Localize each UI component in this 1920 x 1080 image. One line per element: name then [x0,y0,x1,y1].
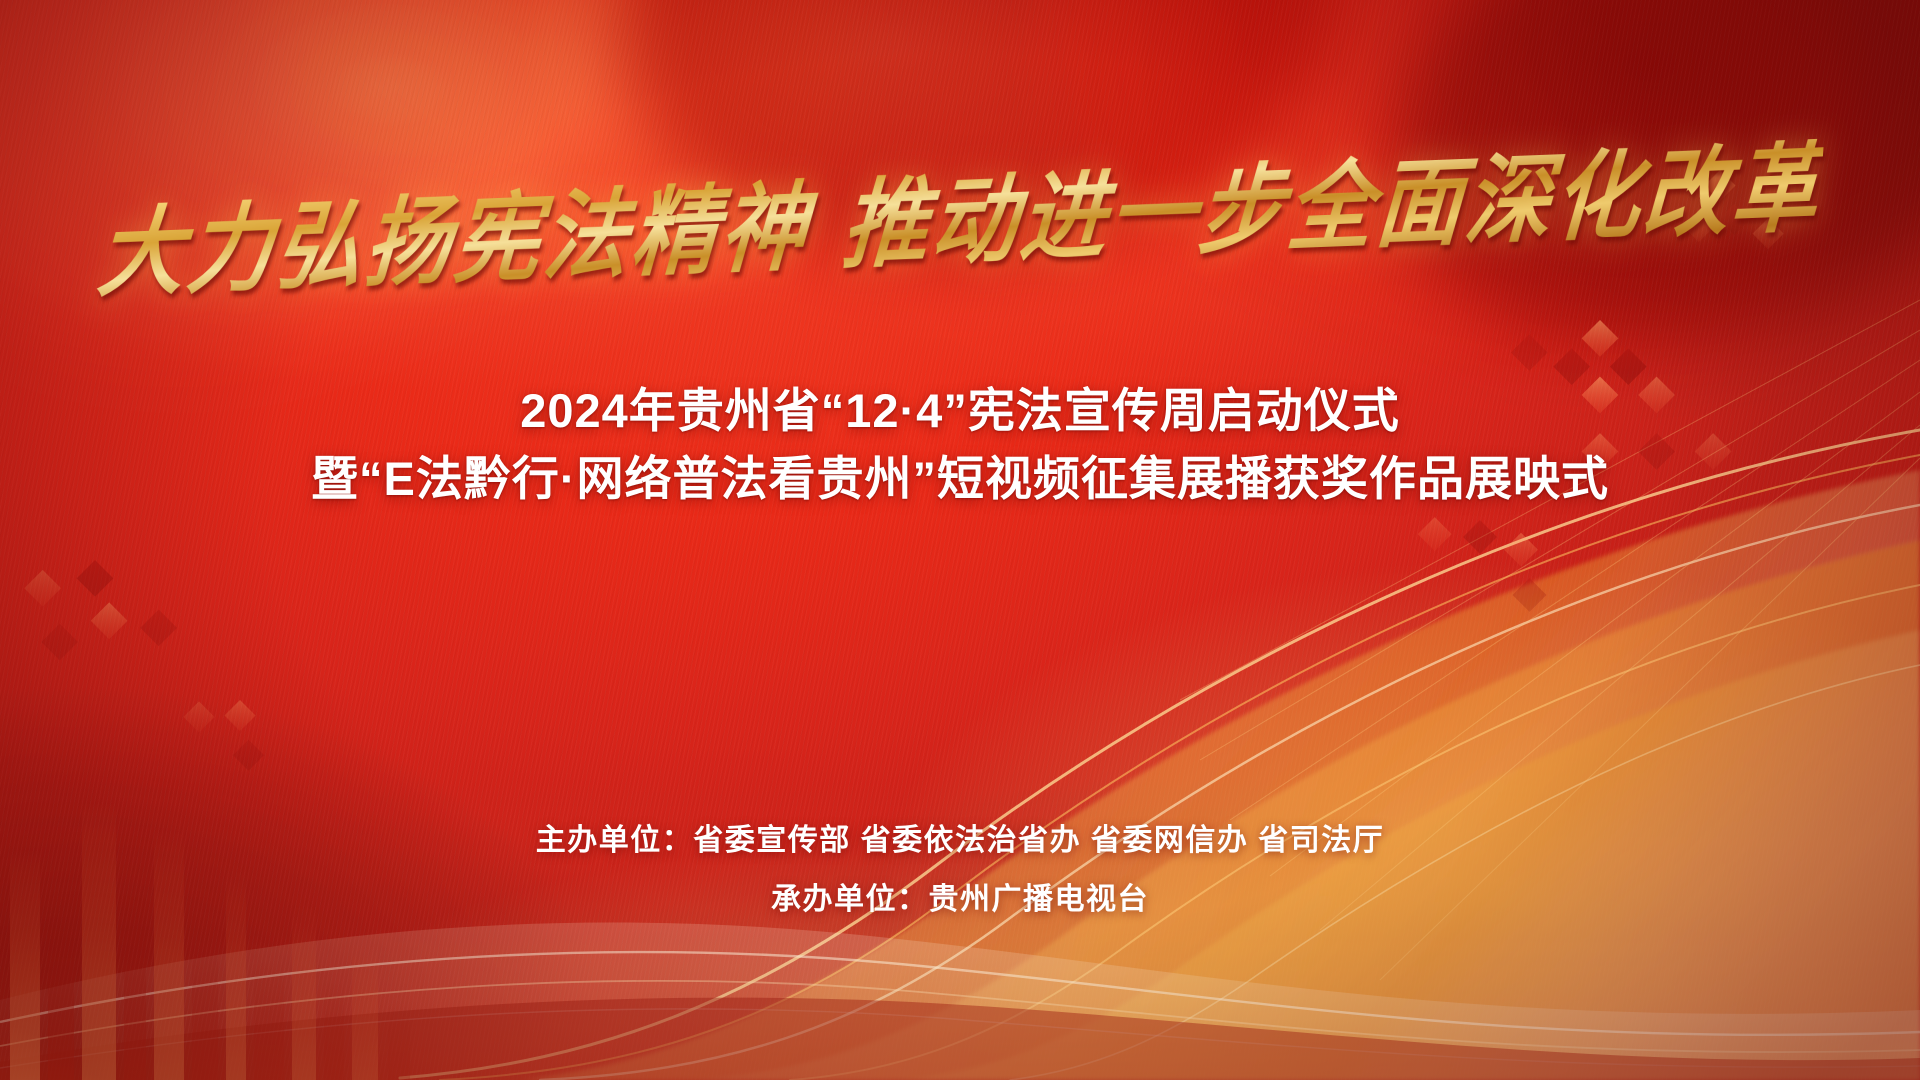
poster-canvas: 大力弘扬宪法精神 推动进一步全面深化改革 2024年贵州省“12·4”宪法宣传周… [0,0,1920,1080]
event-title-line-2: 暨“E法黔行·网络普法看贵州”短视频征集展播获奖作品展映式 [0,448,1920,509]
calligraphy-headline: 大力弘扬宪法精神 推动进一步全面深化改革 [94,109,1826,316]
event-title-line-1: 2024年贵州省“12·4”宪法宣传周启动仪式 [0,380,1920,441]
calligraphy-headline-wrapper: 大力弘扬宪法精神 推动进一步全面深化改革 [0,150,1920,270]
event-title-block: 2024年贵州省“12·4”宪法宣传周启动仪式 暨“E法黔行·网络普法看贵州”短… [0,380,1920,509]
organizer-block: 主办单位：省委宣传部 省委依法治省办 省委网信办 省司法厅 承办单位：贵州广播电… [0,812,1920,929]
poster-content: 大力弘扬宪法精神 推动进一步全面深化改革 2024年贵州省“12·4”宪法宣传周… [0,0,1920,1080]
organizing-unit-line: 承办单位：贵州广播电视台 [0,871,1920,930]
host-organizations-line: 主办单位：省委宣传部 省委依法治省办 省委网信办 省司法厅 [0,812,1920,871]
